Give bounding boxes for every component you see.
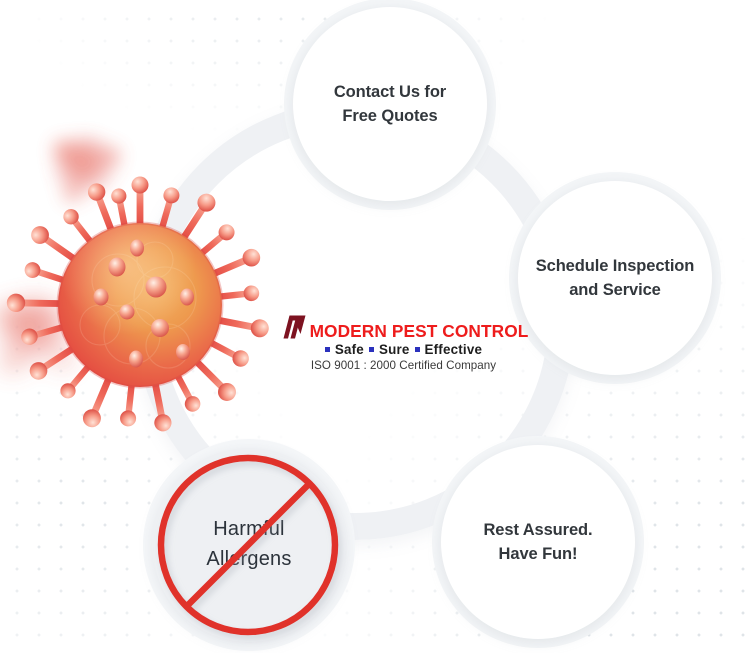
bullet-square-icon	[415, 347, 420, 352]
logo-tagline-item-2: Effective	[425, 343, 483, 356]
bullet-square-icon	[369, 347, 374, 352]
cycle-node-contact-label: Contact Us for Free Quotes	[318, 80, 462, 129]
bullet-square-icon	[325, 347, 330, 352]
virus-body	[58, 223, 222, 387]
cycle-node-harmful-allergens-label: Harmful Allergens	[190, 515, 307, 574]
logo-tagline: Safe Sure Effective	[296, 343, 511, 356]
cycle-node-rest-assured[interactable]: Rest Assured. Have Fun!	[441, 445, 635, 639]
infographic-canvas: Contact Us for Free Quotes Schedule Insp…	[0, 0, 748, 653]
virus-blurred-back	[54, 138, 120, 202]
logo-tagline-item-1: Sure	[379, 343, 410, 356]
cycle-node-schedule[interactable]: Schedule Inspection and Service	[518, 181, 712, 375]
cycle-node-rest-assured-label: Rest Assured. Have Fun!	[467, 518, 608, 567]
brand-logo: MODERN PEST CONTROL Safe Sure Effective …	[296, 313, 511, 372]
virus-germ-illustration	[0, 120, 300, 410]
cycle-node-contact[interactable]: Contact Us for Free Quotes	[293, 7, 487, 201]
cycle-node-harmful-allergens[interactable]: Harmful Allergens	[152, 448, 346, 642]
logo-iso-line: ISO 9001 : 2000 Certified Company	[296, 360, 511, 372]
cycle-node-schedule-label: Schedule Inspection and Service	[520, 254, 711, 303]
logo-wordmark: MODERN PEST CONTROL	[310, 323, 529, 340]
logo-tagline-item-0: Safe	[335, 343, 364, 356]
